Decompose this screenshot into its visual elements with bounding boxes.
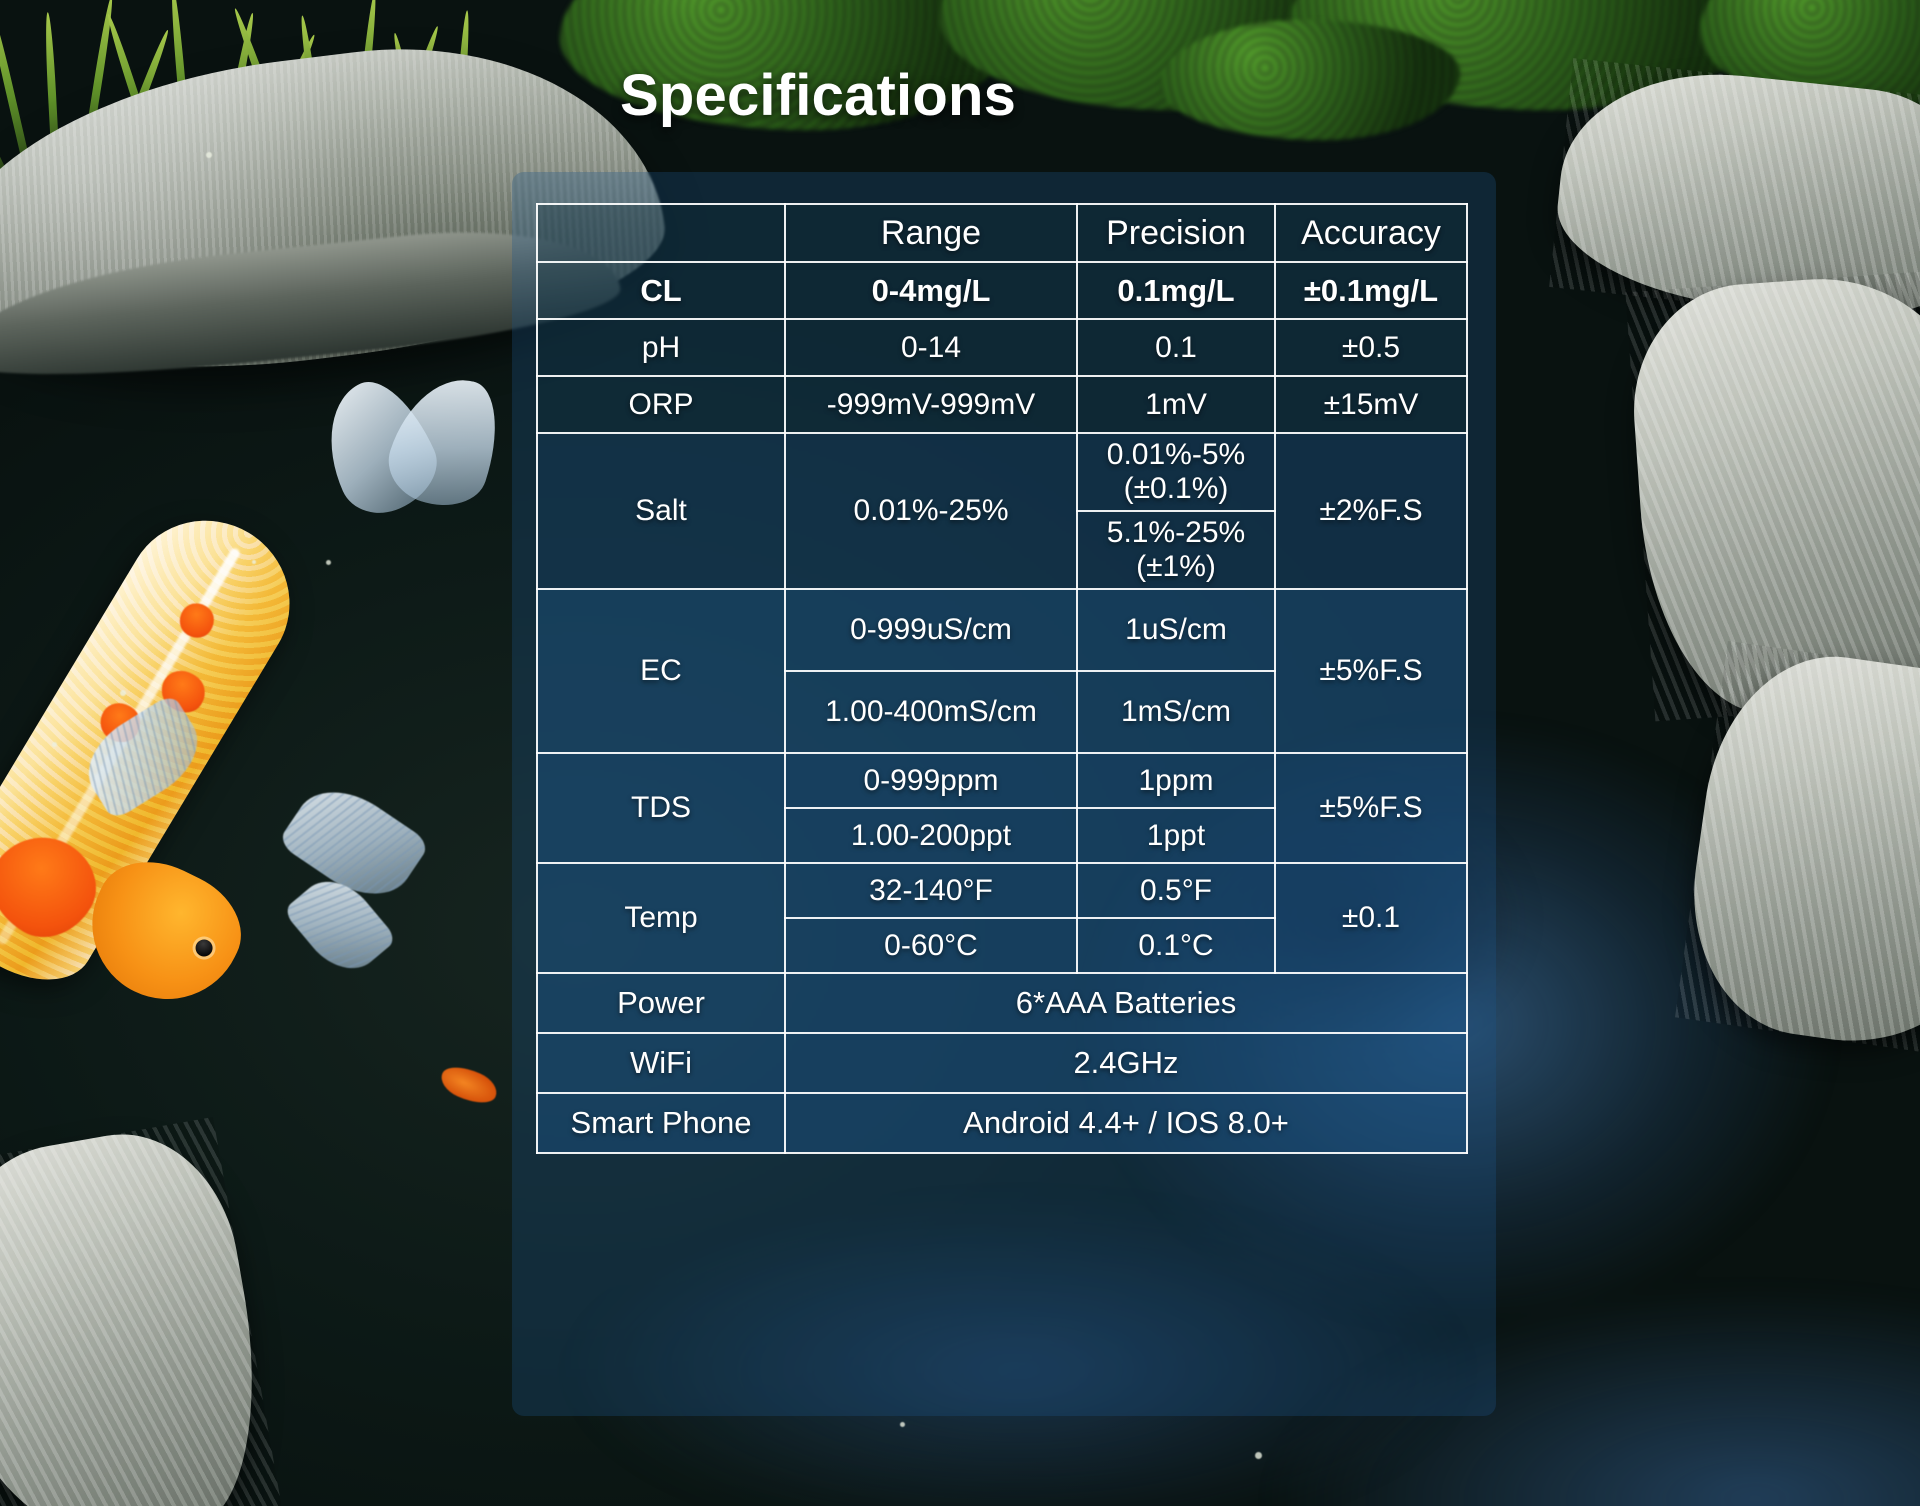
cell-ec-precision-a: 1uS/cm <box>1077 589 1275 671</box>
row-label-wifi: WiFi <box>537 1033 785 1093</box>
table-row-orp: ORP -999mV-999mV 1mV ±15mV <box>537 376 1467 433</box>
cell-tds-precision-b: 1ppt <box>1077 808 1275 863</box>
cell-tds-range-a: 0-999ppm <box>785 753 1077 808</box>
cell-ec-range-a: 0-999uS/cm <box>785 589 1077 671</box>
cell-ph-precision: 0.1 <box>1077 319 1275 376</box>
cell-temp-range-b: 0-60°C <box>785 918 1077 973</box>
cell-temp-precision-b: 0.1°C <box>1077 918 1275 973</box>
cell-orp-range: -999mV-999mV <box>785 376 1077 433</box>
table-row-tds-a: TDS 0-999ppm 1ppm ±5%F.S <box>537 753 1467 808</box>
cell-cl-range: 0-4mg/L <box>785 262 1077 319</box>
row-label-ec: EC <box>537 589 785 753</box>
header-cell-precision: Precision <box>1077 204 1275 262</box>
cell-cl-accuracy: ±0.1mg/L <box>1275 262 1467 319</box>
specifications-table: Range Precision Accuracy CL 0-4mg/L 0.1m… <box>536 203 1468 1154</box>
header-cell-accuracy: Accuracy <box>1275 204 1467 262</box>
cell-ec-precision-b: 1mS/cm <box>1077 671 1275 753</box>
table-row-temp-a: Temp 32-140°F 0.5°F ±0.1 <box>537 863 1467 918</box>
cell-orp-precision: 1mV <box>1077 376 1275 433</box>
header-cell-range: Range <box>785 204 1077 262</box>
cell-salt-accuracy: ±2%F.S <box>1275 433 1467 589</box>
cell-tds-precision-a: 1ppm <box>1077 753 1275 808</box>
cell-salt-range: 0.01%-25% <box>785 433 1077 589</box>
cell-smart-phone-value: Android 4.4+ / IOS 8.0+ <box>785 1093 1467 1153</box>
cell-ec-range-b: 1.00-400mS/cm <box>785 671 1077 753</box>
cell-tds-accuracy: ±5%F.S <box>1275 753 1467 863</box>
cell-ph-range: 0-14 <box>785 319 1077 376</box>
table-row-power: Power 6*AAA Batteries <box>537 973 1467 1033</box>
cell-ec-accuracy: ±5%F.S <box>1275 589 1467 753</box>
cell-orp-accuracy: ±15mV <box>1275 376 1467 433</box>
cell-tds-range-b: 1.00-200ppt <box>785 808 1077 863</box>
row-label-temp: Temp <box>537 863 785 973</box>
table-row-smart-phone: Smart Phone Android 4.4+ / IOS 8.0+ <box>537 1093 1467 1153</box>
table-row-cl: CL 0-4mg/L 0.1mg/L ±0.1mg/L <box>537 262 1467 319</box>
row-label-ph: pH <box>537 319 785 376</box>
table-row-salt-a: Salt 0.01%-25% 0.01%-5%(±0.1%) ±2%F.S <box>537 433 1467 511</box>
page-title: Specifications <box>620 62 1016 129</box>
cell-power-value: 6*AAA Batteries <box>785 973 1467 1033</box>
cell-temp-range-a: 32-140°F <box>785 863 1077 918</box>
row-label-cl: CL <box>537 262 785 319</box>
cell-ph-accuracy: ±0.5 <box>1275 319 1467 376</box>
cell-temp-precision-a: 0.5°F <box>1077 863 1275 918</box>
cell-salt-precision-b: 5.1%-25%(±1%) <box>1077 511 1275 589</box>
table-header-row: Range Precision Accuracy <box>537 204 1467 262</box>
row-label-salt: Salt <box>537 433 785 589</box>
row-label-power: Power <box>537 973 785 1033</box>
row-label-tds: TDS <box>537 753 785 863</box>
table-row-ph: pH 0-14 0.1 ±0.5 <box>537 319 1467 376</box>
cell-temp-accuracy: ±0.1 <box>1275 863 1467 973</box>
cell-salt-precision-a: 0.01%-5%(±0.1%) <box>1077 433 1275 511</box>
header-cell-blank <box>537 204 785 262</box>
table-row-wifi: WiFi 2.4GHz <box>537 1033 1467 1093</box>
row-label-orp: ORP <box>537 376 785 433</box>
overlay-content: Specifications Range Precision Accuracy … <box>0 0 1920 1506</box>
screenshot-root: Specifications Range Precision Accuracy … <box>0 0 1920 1506</box>
table-row-ec-a: EC 0-999uS/cm 1uS/cm ±5%F.S <box>537 589 1467 671</box>
cell-cl-precision: 0.1mg/L <box>1077 262 1275 319</box>
row-label-smart-phone: Smart Phone <box>537 1093 785 1153</box>
cell-wifi-value: 2.4GHz <box>785 1033 1467 1093</box>
